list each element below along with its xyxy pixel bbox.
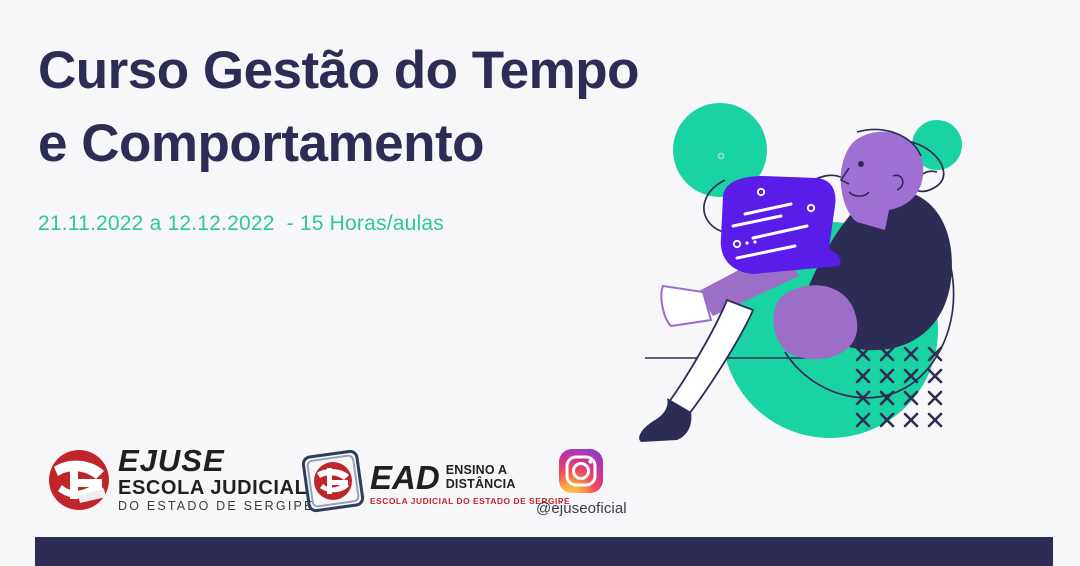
instagram-handle: @ejuseoficial [536, 500, 627, 517]
ead-wordmark: EAD [370, 461, 440, 494]
eye [858, 161, 864, 167]
ejuse-emblem-icon [48, 449, 110, 511]
footer-logos: EJUSE ESCOLA JUDICIAL DO ESTADO DE SERGI… [0, 440, 1080, 530]
illustration-woman-with-laptop [585, 80, 1005, 460]
ead-tagline-line2: DISTÂNCIA [446, 477, 516, 492]
course-banner: Curso Gestão do Tempo e Comportamento 21… [0, 0, 1080, 566]
laptop-dot-4 [745, 241, 748, 244]
instagram-icon [558, 448, 604, 494]
instagram-link[interactable]: @ejuseoficial [536, 448, 627, 517]
ejuse-text-block: EJUSE ESCOLA JUDICIAL DO ESTADO DE SERGI… [118, 445, 315, 515]
ead-emblem-icon [300, 448, 366, 514]
ejuse-line2: DO ESTADO DE SERGIPE [118, 499, 315, 515]
laptop-dot-5 [753, 240, 756, 243]
bottom-accent-bar [35, 537, 1053, 566]
logo-ejuse[interactable]: EJUSE ESCOLA JUDICIAL DO ESTADO DE SERGI… [48, 445, 315, 515]
logo-ead[interactable]: EAD ENSINO A DISTÂNCIA ESCOLA JUDICIAL D… [300, 448, 570, 514]
hip [774, 285, 858, 359]
shoe-left [661, 286, 711, 326]
ead-tagline: ENSINO A DISTÂNCIA [446, 463, 516, 493]
ejuse-wordmark: EJUSE [118, 445, 315, 476]
ejuse-line1: ESCOLA JUDICIAL [118, 477, 315, 499]
course-dates-and-hours: 21.11.2022 a 12.12.2022 - 15 Horas/aulas [38, 212, 444, 236]
ead-tagline-line1: ENSINO A [446, 463, 516, 478]
